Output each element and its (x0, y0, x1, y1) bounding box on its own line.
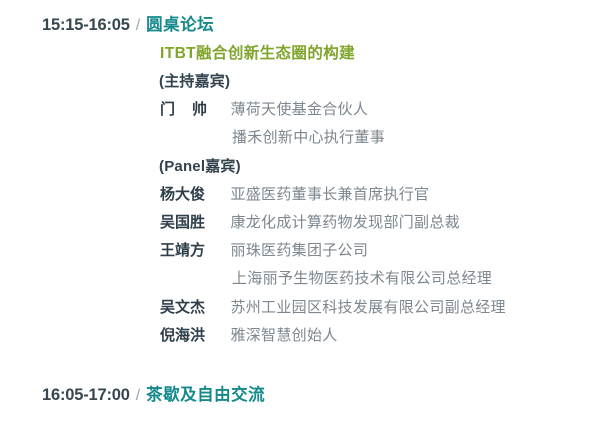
speaker-org: 薄荷天使基金合伙人 (230, 98, 368, 119)
speaker-name: 门帅 (160, 98, 226, 119)
speaker-name: 倪海洪 (160, 324, 226, 345)
speaker-org-continued: 播禾创新中心执行董事 (232, 126, 385, 147)
group-label-host: (主持嘉宾) (159, 70, 230, 91)
speaker-name: 王靖方 (160, 239, 226, 260)
speaker-name: 吴文杰 (160, 296, 226, 317)
slot-separator: / (136, 17, 140, 35)
schedule-slot-heading-roundtable: 15:15-16:05 / 圆桌论坛 (42, 11, 214, 35)
speaker-row-wuguosheng: 吴国胜 康龙化成计算药物发现部门副总裁 (160, 211, 580, 235)
speaker-row-wangjingfang: 王靖方 丽珠医药集团子公司 (160, 239, 580, 263)
slot-title: 圆桌论坛 (146, 11, 214, 35)
speaker-org: 亚盛医药董事长兼首席执行官 (230, 183, 429, 204)
speaker-name: 杨大俊 (160, 183, 226, 204)
slot-title: 茶歇及自由交流 (146, 381, 265, 405)
speaker-name: 吴国胜 (160, 211, 226, 232)
slot-time: 15:15-16:05 (42, 16, 130, 35)
speaker-org: 雅深智慧创始人 (230, 324, 337, 345)
speaker-org: 丽珠医药集团子公司 (230, 239, 368, 260)
speaker-row-nihaihong: 倪海洪 雅深智慧创始人 (160, 324, 580, 348)
speaker-org: 苏州工业园区科技发展有限公司副总经理 (230, 296, 505, 317)
speaker-row-yangdajun: 杨大俊 亚盛医药董事长兼首席执行官 (160, 183, 580, 207)
slot-separator: / (136, 387, 140, 405)
speaker-row-menshuai: 门帅 薄荷天使基金合伙人 (160, 98, 580, 122)
speaker-row-wuwenjie: 吴文杰 苏州工业园区科技发展有限公司副总经理 (160, 296, 580, 320)
session-title: ITBT融合创新生态圈的构建 (160, 41, 355, 63)
group-label-panel: (Panel嘉宾) (159, 155, 241, 176)
slot-time: 16:05-17:00 (42, 386, 130, 405)
speaker-org: 康龙化成计算药物发现部门副总裁 (230, 211, 460, 232)
speaker-org-continued: 上海丽予生物医药技术有限公司总经理 (232, 267, 492, 288)
agenda-schedule: 15:15-16:05 / 圆桌论坛 ITBT融合创新生态圈的构建 (主持嘉宾)… (0, 0, 600, 436)
speaker-name-part-2: 帅 (192, 101, 207, 118)
schedule-slot-heading-teabreak: 16:05-17:00 / 茶歇及自由交流 (42, 381, 265, 405)
speaker-name-part-1: 门 (160, 101, 175, 118)
